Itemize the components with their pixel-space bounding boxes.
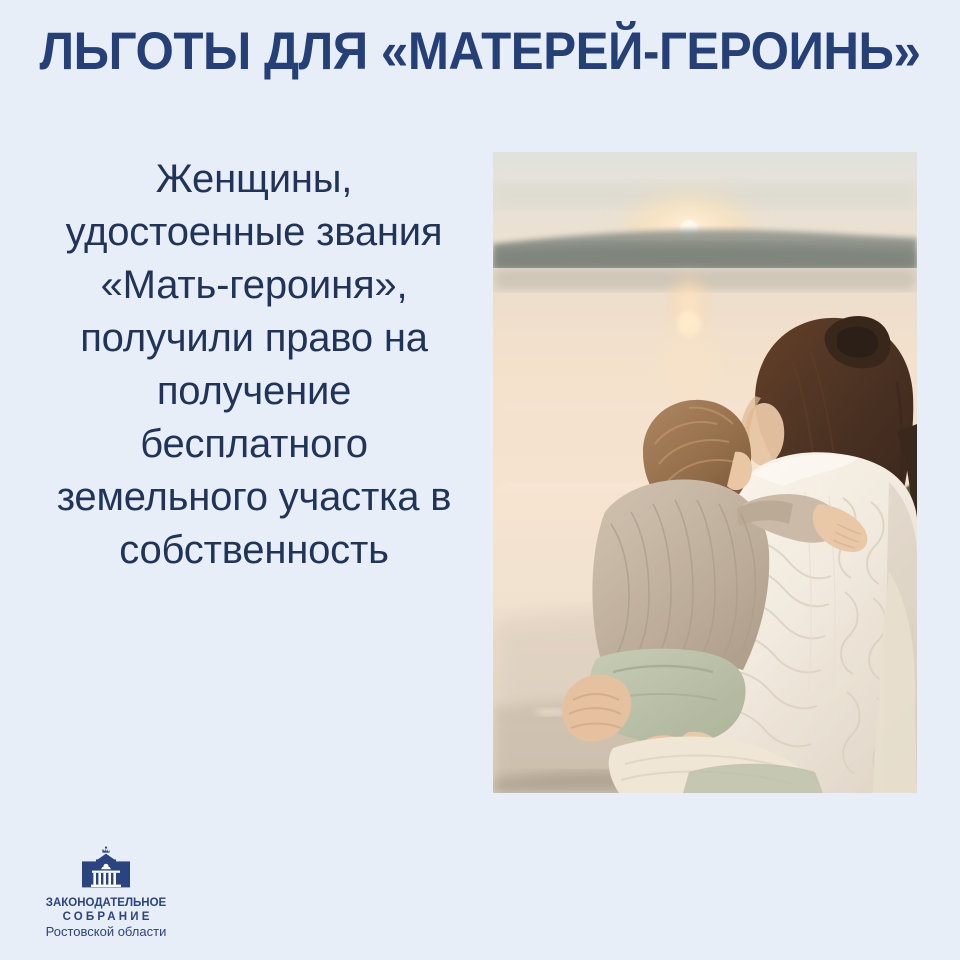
logo-line-1: ЗАКОНОДАТЕЛЬНОЕ bbox=[44, 896, 168, 910]
body-text-line: удостоенные звания bbox=[18, 206, 490, 259]
body-text-line: земельного участка в bbox=[18, 471, 490, 524]
logo-line-2: СОБРАНИЕ bbox=[44, 910, 168, 924]
poster-canvas: ЛЬГОТЫ ДЛЯ «МАТЕРЕЙ-ГЕРОИНЬ» Женщины, уд… bbox=[0, 0, 960, 960]
body-text-line: собственность bbox=[18, 524, 490, 577]
page-title: ЛЬГОТЫ ДЛЯ «МАТЕРЕЙ-ГЕРОИНЬ» bbox=[34, 22, 927, 82]
photo-illustration bbox=[493, 152, 917, 793]
photo-mother-and-child bbox=[493, 152, 917, 793]
body-text-line: бесплатного bbox=[18, 418, 490, 471]
body-text-line: «Мать-героиня», bbox=[18, 259, 490, 312]
logo-line-3: Ростовской области bbox=[44, 924, 168, 940]
body-text-line: получение bbox=[18, 365, 490, 418]
body-text-line: получили право на bbox=[18, 312, 490, 365]
parliament-building-icon bbox=[75, 846, 137, 892]
body-text-line: Женщины, bbox=[18, 153, 490, 206]
body-text-block: Женщины, удостоенные звания «Мать-героин… bbox=[18, 153, 490, 577]
legislative-assembly-logo: ЗАКОНОДАТЕЛЬНОЕ СОБРАНИЕ Ростовской обла… bbox=[44, 846, 168, 940]
